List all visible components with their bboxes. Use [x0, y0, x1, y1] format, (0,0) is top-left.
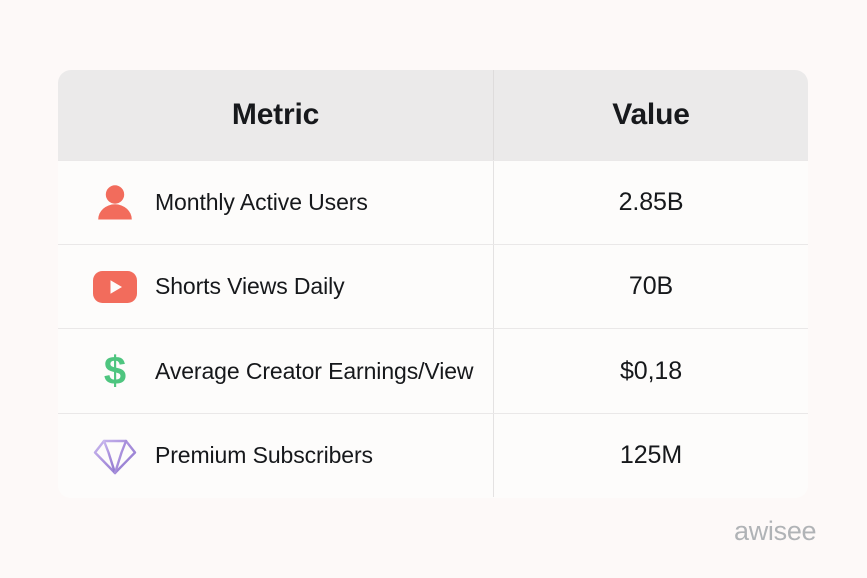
- metric-value: $0,18: [620, 357, 682, 386]
- row-cell-value: $0,18: [494, 329, 808, 413]
- table-row[interactable]: $ Average Creator Earnings/View $0,18: [58, 328, 808, 413]
- row-cell-metric: Premium Subscribers: [58, 414, 494, 497]
- metric-label: Premium Subscribers: [155, 440, 373, 471]
- gem-icon: [89, 430, 141, 482]
- header-label-value: Value: [612, 98, 689, 132]
- awisee-watermark-logo: awisee: [734, 516, 816, 547]
- row-cell-value: 125M: [494, 414, 808, 497]
- row-cell-value: 70B: [494, 245, 808, 328]
- table-row[interactable]: Shorts Views Daily 70B: [58, 244, 808, 328]
- person-icon: [89, 177, 141, 229]
- header-cell-metric: Metric: [58, 70, 494, 160]
- metric-label: Average Creator Earnings/View: [155, 356, 473, 387]
- header-label-metric: Metric: [232, 98, 319, 132]
- row-cell-metric: $ Average Creator Earnings/View: [58, 329, 494, 413]
- svg-text:$: $: [104, 349, 126, 393]
- metrics-table: Metric Value Monthly Active Users: [58, 70, 808, 498]
- metric-label: Monthly Active Users: [155, 187, 368, 218]
- youtube-play-icon: [89, 261, 141, 313]
- row-cell-value: 2.85B: [494, 161, 808, 244]
- header-cell-value: Value: [494, 70, 808, 160]
- row-cell-metric: Shorts Views Daily: [58, 245, 494, 328]
- table-header-row: Metric Value: [58, 70, 808, 160]
- metric-value: 125M: [620, 441, 682, 470]
- metric-label: Shorts Views Daily: [155, 271, 345, 302]
- metric-value: 2.85B: [619, 188, 684, 217]
- table-row[interactable]: Monthly Active Users 2.85B: [58, 160, 808, 244]
- dollar-sign-icon: $: [89, 345, 141, 397]
- row-cell-metric: Monthly Active Users: [58, 161, 494, 244]
- metric-value: 70B: [629, 272, 673, 301]
- page-canvas: Metric Value Monthly Active Users: [0, 0, 867, 578]
- table-row[interactable]: Premium Subscribers 125M: [58, 413, 808, 497]
